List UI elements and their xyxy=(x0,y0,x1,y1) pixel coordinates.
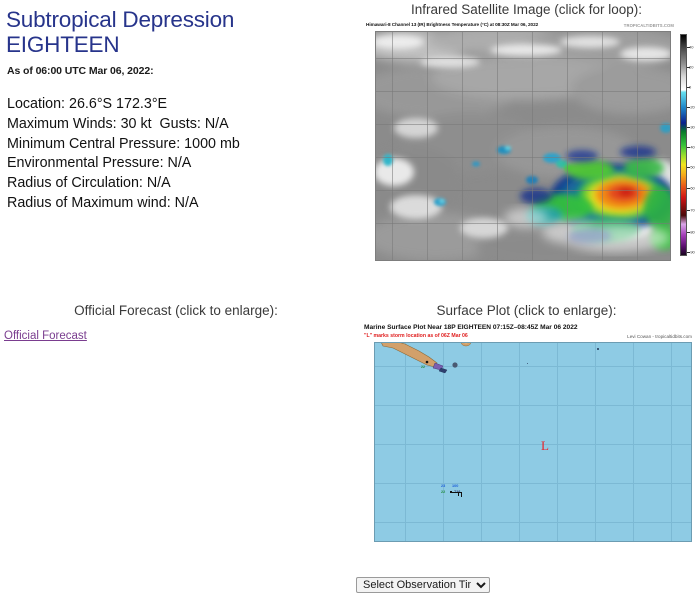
station-temp: 23 xyxy=(441,484,445,488)
ir-gridline-lon xyxy=(602,32,603,260)
colorbar-tick: -20 xyxy=(689,105,695,110)
sp-gridline-lon xyxy=(595,343,596,541)
ir-colorbar xyxy=(680,34,687,256)
ir-plot-area: 20°S 22°S 24°S 26°S 28°S 30°S 32°S 163°E… xyxy=(375,31,671,261)
sp-gridline-lon xyxy=(557,343,558,541)
infrared-satellite-image[interactable]: Himawari-8 Channel 13 (IR) Brightness Te… xyxy=(358,22,696,286)
ir-gridline-lon xyxy=(497,32,498,260)
page-title: Subtropical Depression EIGHTEEN xyxy=(6,7,256,57)
param-max-winds: Maximum Winds: 30 kt Gusts: N/A xyxy=(7,115,344,135)
sp-gridline-lat xyxy=(375,444,691,445)
sp-gridline-lon xyxy=(633,343,634,541)
ir-header-title: Himawari-8 Channel 13 (IR) Brightness Te… xyxy=(366,22,538,27)
colorbar-tick: -50 xyxy=(689,165,695,170)
station-dewpoint: 22 xyxy=(441,490,445,494)
colorbar-tick: -40 xyxy=(689,145,695,150)
colorbar-tick: -80 xyxy=(689,230,695,235)
colorbar-tick: -30 xyxy=(689,125,695,130)
surface-plot-subtitle: "L" marks storm location as of 06Z Mar 0… xyxy=(364,333,468,339)
official-forecast-link[interactable]: Official Forecast xyxy=(4,330,87,342)
colorbar-tick: -60 xyxy=(689,186,695,191)
sp-gridline-lat xyxy=(375,483,691,484)
station-pressure: 100 xyxy=(452,484,458,488)
low-pressure-marker: L xyxy=(541,439,549,452)
ir-watermark: TROPICALTIDBITS.COM xyxy=(624,23,674,28)
infrared-caption: Infrared Satellite Image (click for loop… xyxy=(355,2,698,17)
as-of-timestamp: As of 06:00 UTC Mar 06, 2022: xyxy=(7,65,344,77)
ir-header-bar: Himawari-8 Channel 13 (IR) Brightness Te… xyxy=(358,22,696,31)
surface-plot-credit: Levi Cowan - tropicaltidbits.com xyxy=(627,334,692,339)
colorbar-tick: -90 xyxy=(689,250,695,255)
observation-time-select[interactable]: Select Observation Time... xyxy=(356,577,490,593)
new-caledonia-landmass xyxy=(375,342,495,389)
ir-gridline-lat xyxy=(376,124,670,125)
colorbar-tick: -70 xyxy=(689,208,695,213)
param-location: Location: 26.6°S 172.3°E xyxy=(7,95,344,115)
surface-plot-caption: Surface Plot (click to enlarge): xyxy=(355,303,698,318)
storm-parameter-list: Location: 26.6°S 172.3°E Maximum Winds: … xyxy=(7,95,344,214)
sp-gridline-lat xyxy=(375,522,691,523)
sp-gridline-lon xyxy=(519,343,520,541)
ir-gridline-lon xyxy=(392,32,393,260)
param-radius-circulation: Radius of Circulation: N/A xyxy=(7,174,344,194)
marine-surface-plot[interactable]: Marine Surface Plot Near 18P EIGHTEEN 07… xyxy=(358,324,696,570)
colorbar-tick: 20 xyxy=(689,65,693,70)
ir-gridline-lat xyxy=(376,157,670,158)
sp-gridline-lat xyxy=(375,405,691,406)
colorbar-tick: 0 xyxy=(689,85,691,90)
map-speck xyxy=(527,363,528,364)
ir-gridline-lon xyxy=(427,32,428,260)
colorbar-tick: 40 xyxy=(689,45,693,50)
ir-brightness-temperature-raster xyxy=(376,32,671,261)
sp-gridline-lon xyxy=(671,343,672,541)
ir-gridline-lon xyxy=(637,32,638,260)
map-speck xyxy=(597,348,599,350)
param-env-pressure: Environmental Pressure: N/A xyxy=(7,154,344,174)
ir-gridline-lat xyxy=(376,190,670,191)
ir-gridline-lon xyxy=(567,32,568,260)
ir-gridline-lat xyxy=(376,58,670,59)
surface-plot-map: 22 L 23 100 22 728 22°S 24°S xyxy=(374,342,692,542)
storm-info-panel: Subtropical Depression EIGHTEEN As of 06… xyxy=(0,0,352,292)
storm-summary-page: Subtropical Depression EIGHTEEN As of 06… xyxy=(0,0,698,594)
param-radius-max-wind: Radius of Maximum wind: N/A xyxy=(7,194,344,214)
ir-cloud-field xyxy=(376,32,670,260)
ir-gridline-lon xyxy=(532,32,533,260)
param-min-pressure: Minimum Central Pressure: 1000 mb xyxy=(7,135,344,155)
island-station-temp: 22 xyxy=(421,365,425,369)
official-forecast-caption: Official Forecast (click to enlarge): xyxy=(0,303,352,318)
ir-gridline-lat xyxy=(376,223,670,224)
ir-gridline-lat xyxy=(376,91,670,92)
surface-plot-title: Marine Surface Plot Near 18P EIGHTEEN 07… xyxy=(364,324,578,331)
ir-gridline-lon xyxy=(462,32,463,260)
